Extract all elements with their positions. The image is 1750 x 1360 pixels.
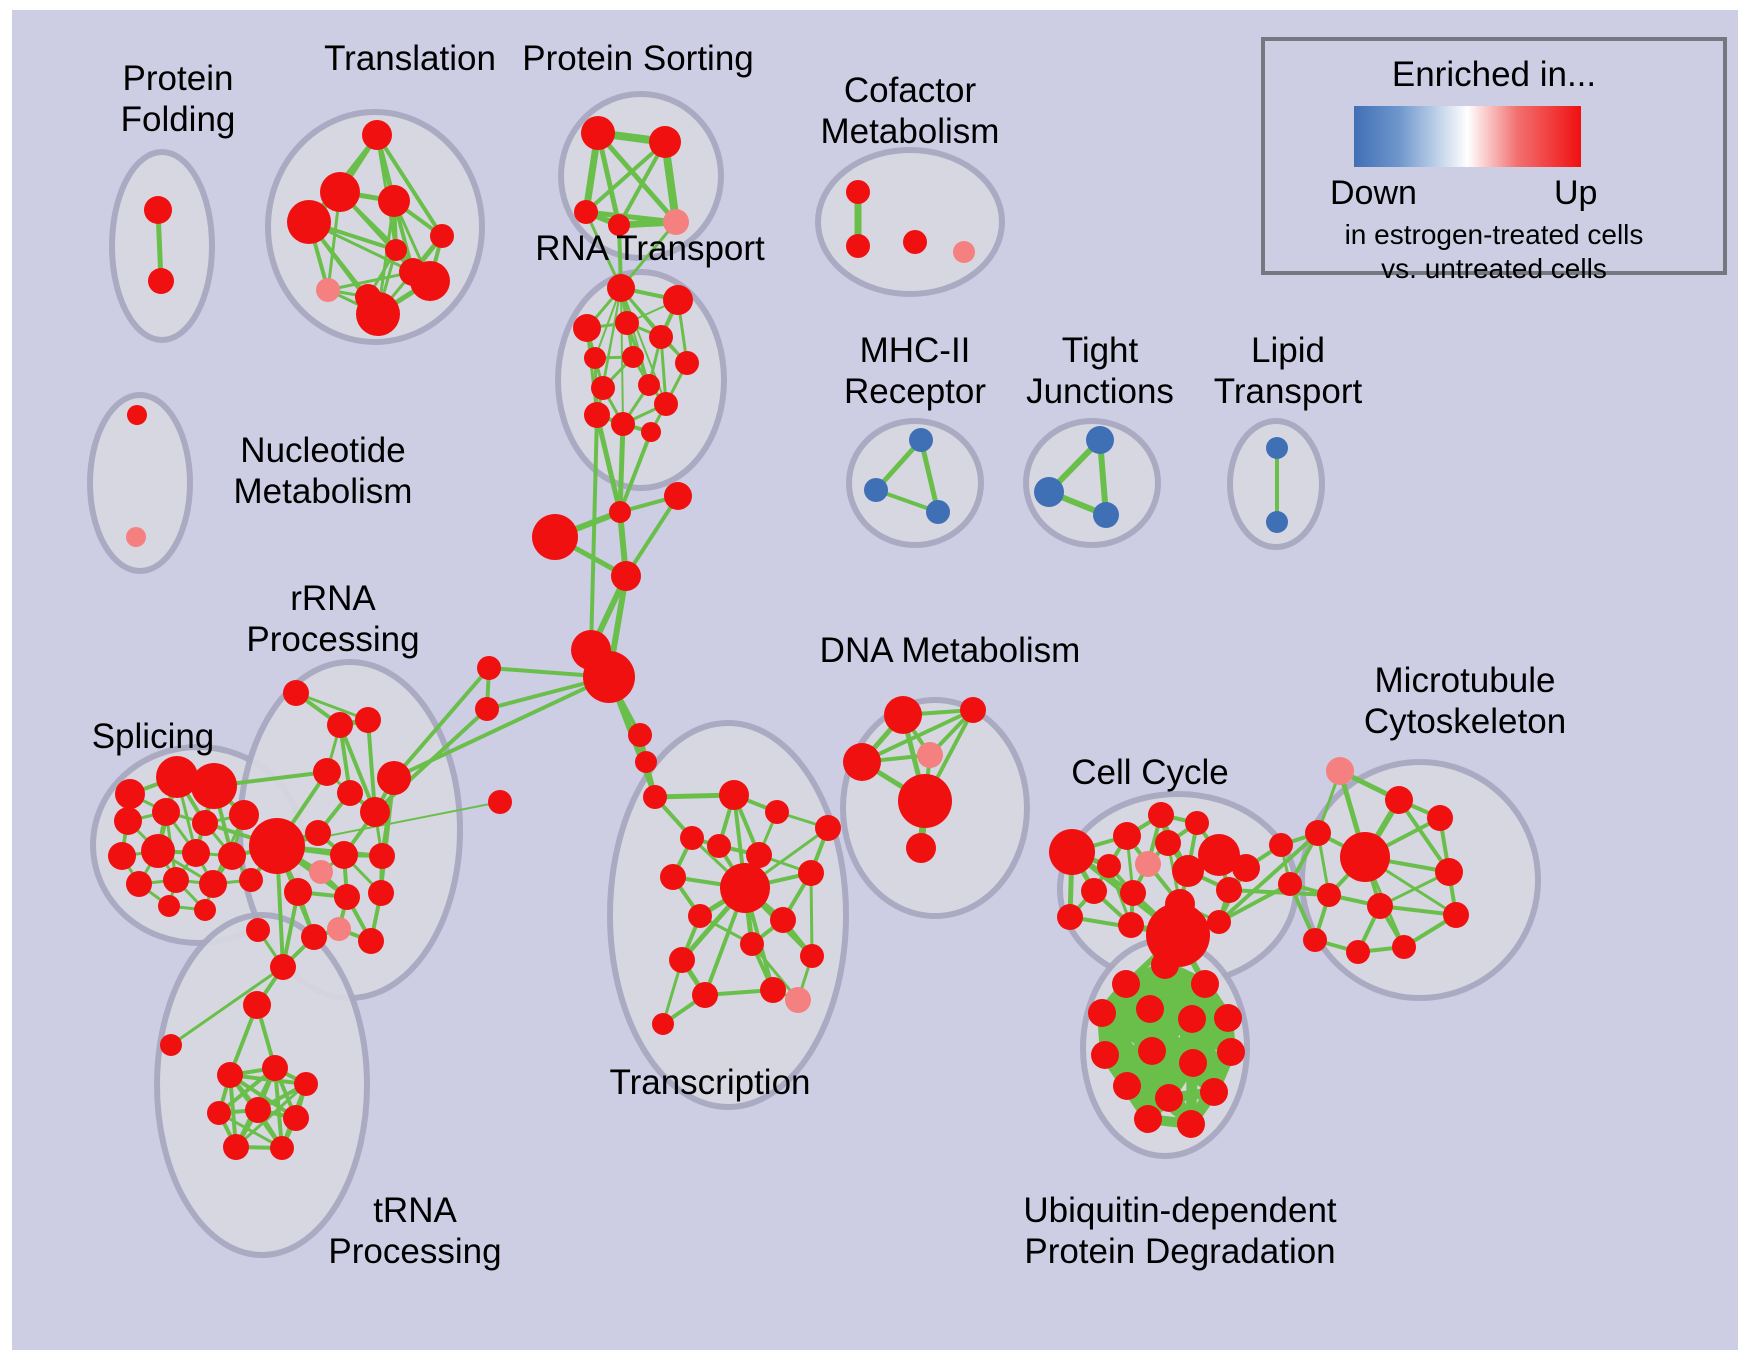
node-rna-transport (654, 392, 678, 416)
node-tight-junctions (1034, 477, 1064, 507)
node-rrna-processing (358, 928, 384, 954)
node-ubiquitin (1088, 999, 1116, 1027)
node-transcription (680, 826, 704, 850)
node-ubiquitin (1091, 1041, 1119, 1069)
node-rrna-processing (377, 761, 411, 795)
node-transcription (815, 815, 841, 841)
node-ubiquitin (1217, 1038, 1245, 1066)
node-rrna-processing (360, 797, 390, 827)
node-cell-cycle (1207, 910, 1231, 934)
node-microtubule (1326, 757, 1354, 785)
node-nucleotide-metabolism (127, 405, 147, 425)
cluster-label-splicing: Splicing (58, 716, 248, 757)
node-rrna-processing (246, 918, 270, 942)
node-trna-processing (262, 1055, 288, 1081)
node-rna-transport (584, 402, 610, 428)
legend-box: Enriched in... Down Up in estrogen-treat… (1261, 37, 1727, 275)
node-splicing (199, 870, 227, 898)
node-rna-transport (611, 412, 635, 436)
node-ubiquitin (1214, 1004, 1242, 1032)
legend-down-label: Down (1330, 174, 1417, 213)
node-rrna-processing (334, 884, 360, 910)
node-cofactor-metabolism (846, 180, 870, 204)
node-rna-transport (638, 374, 660, 396)
inter-cluster-edge (620, 424, 623, 512)
node-rrna-processing (249, 818, 305, 874)
node-bridge (477, 656, 501, 680)
node-transcription (707, 834, 731, 858)
node-bridge (664, 482, 692, 510)
node-transcription (770, 907, 796, 933)
node-mhc-ii (909, 428, 933, 452)
cluster-label-mhc-ii: MHC-II Receptor (805, 330, 1025, 412)
node-transcription (800, 944, 824, 968)
node-ubiquitin (1112, 970, 1140, 998)
node-dna-metabolism (898, 774, 952, 828)
node-ubiquitin (1138, 1037, 1166, 1065)
node-microtubule (1317, 883, 1341, 907)
node-splicing (163, 867, 189, 893)
node-transcription (740, 932, 764, 956)
node-ubiquitin (1113, 1072, 1141, 1100)
node-microtubule (1303, 928, 1327, 952)
cluster-label-protein-sorting: Protein Sorting (498, 38, 778, 79)
node-tight-junctions (1086, 426, 1114, 454)
node-splicing (108, 842, 136, 870)
node-cell-cycle (1135, 851, 1161, 877)
node-mhc-ii (864, 478, 888, 502)
node-splicing (191, 763, 237, 809)
node-splicing (194, 899, 216, 921)
node-splicing (192, 810, 218, 836)
node-splicing (115, 779, 145, 809)
node-cell-cycle (1049, 829, 1095, 875)
node-translation (399, 258, 427, 286)
node-rrna-processing (313, 758, 341, 786)
legend-colorbar (1354, 106, 1581, 167)
node-bridge (609, 501, 631, 523)
node-splicing (141, 834, 175, 868)
node-trna-processing (245, 1097, 271, 1123)
node-rna-transport (675, 351, 699, 375)
cluster-label-transcription: Transcription (580, 1062, 840, 1103)
node-cell-cycle (1113, 822, 1141, 850)
cluster-halo-microtubule (1302, 762, 1538, 998)
node-trna-processing (223, 1134, 249, 1160)
node-cell-cycle (1216, 877, 1242, 903)
node-dna-metabolism (917, 742, 943, 768)
node-cofactor-metabolism (903, 230, 927, 254)
node-bridge (583, 651, 635, 703)
node-protein-sorting (581, 116, 615, 150)
node-transcription (660, 864, 686, 890)
node-ubiquitin (1177, 1110, 1205, 1138)
node-translation (355, 284, 381, 310)
node-cell-cycle (1057, 904, 1083, 930)
node-rrna-processing (270, 954, 296, 980)
node-translation (430, 224, 454, 248)
node-rna-transport (663, 285, 693, 315)
node-microtubule (1305, 820, 1331, 846)
node-microtubule (1269, 833, 1293, 857)
node-microtubule (1278, 872, 1302, 896)
cluster-label-rna-transport: RNA Transport (510, 228, 790, 269)
node-splicing (158, 895, 180, 917)
node-bridge (628, 723, 652, 747)
node-microtubule (1340, 832, 1390, 882)
node-trna-processing (294, 1072, 318, 1096)
node-cell-cycle (1232, 854, 1260, 882)
legend-up-label: Up (1554, 174, 1597, 213)
node-splicing (182, 839, 210, 867)
node-rrna-processing (243, 991, 271, 1019)
node-ubiquitin (1191, 970, 1219, 998)
node-splicing (229, 800, 259, 830)
node-rna-transport (607, 274, 635, 302)
node-rna-transport (649, 325, 673, 349)
node-bridge (488, 790, 512, 814)
node-microtubule (1385, 786, 1413, 814)
node-ubiquitin (1179, 1049, 1207, 1077)
node-ubiquitin (1155, 1084, 1183, 1112)
node-bridge (532, 514, 578, 560)
node-cell-cycle (1172, 855, 1204, 887)
cluster-label-tight-junctions: Tight Junctions (1000, 330, 1200, 412)
node-trna-processing (160, 1034, 182, 1056)
node-dna-metabolism (843, 743, 881, 781)
cluster-label-cell-cycle: Cell Cycle (1040, 752, 1260, 793)
legend-subtitle-line2: vs. untreated cells (1265, 253, 1723, 285)
node-rrna-processing (301, 924, 327, 950)
node-microtubule (1427, 805, 1453, 831)
node-cofactor-metabolism (846, 234, 870, 258)
node-tight-junctions (1093, 502, 1119, 528)
node-cofactor-metabolism (953, 241, 975, 263)
node-protein-folding (144, 196, 172, 224)
figure-canvas: Protein FoldingTranslationProtein Sortin… (0, 0, 1750, 1360)
node-transcription (688, 904, 712, 928)
node-splicing (239, 868, 263, 892)
node-splicing (114, 807, 142, 835)
node-microtubule (1367, 893, 1393, 919)
node-rna-transport (573, 314, 601, 342)
node-rrna-processing (327, 712, 353, 738)
node-bridge (643, 785, 667, 809)
node-cell-cycle (1120, 880, 1146, 906)
cluster-label-protein-folding: Protein Folding (78, 58, 278, 140)
node-bridge (635, 751, 657, 773)
node-transcription (692, 982, 718, 1008)
node-ubiquitin (1200, 1078, 1228, 1106)
node-cell-cycle (1081, 878, 1107, 904)
cluster-label-rrna-processing: rRNA Processing (218, 578, 448, 660)
node-ubiquitin (1134, 1105, 1162, 1133)
node-splicing (152, 798, 180, 826)
node-rrna-processing (305, 820, 331, 846)
cluster-label-cofactor-metabolism: Cofactor Metabolism (795, 70, 1025, 152)
node-cell-cycle (1155, 830, 1181, 856)
cluster-halo-cofactor-metabolism (818, 150, 1002, 294)
node-microtubule (1435, 858, 1463, 886)
node-lipid-transport (1266, 437, 1288, 459)
cluster-label-lipid-transport: Lipid Transport (1188, 330, 1388, 412)
node-microtubule (1346, 940, 1370, 964)
node-rrna-processing (284, 878, 312, 906)
node-trna-processing (207, 1101, 231, 1125)
node-translation (385, 239, 407, 261)
node-cell-cycle (1185, 811, 1209, 835)
node-transcription (785, 987, 811, 1013)
node-dna-metabolism (884, 696, 922, 734)
node-splicing (126, 871, 152, 897)
node-transcription (652, 1013, 674, 1035)
node-rna-transport (615, 311, 639, 335)
node-rrna-processing (369, 843, 395, 869)
node-transcription (760, 977, 786, 1003)
node-translation (316, 278, 340, 302)
node-protein-folding (148, 268, 174, 294)
node-cell-cycle (1097, 854, 1121, 878)
node-transcription (669, 947, 695, 973)
node-ubiquitin (1178, 1005, 1206, 1033)
node-cell-cycle (1148, 802, 1174, 828)
cluster-label-nucleotide-metabolism: Nucleotide Metabolism (198, 430, 448, 512)
node-ubiquitin (1151, 951, 1179, 979)
node-translation (320, 172, 360, 212)
node-nucleotide-metabolism (126, 527, 146, 547)
node-transcription (765, 800, 789, 824)
node-translation (378, 185, 410, 217)
node-bridge (475, 697, 499, 721)
node-protein-sorting (649, 126, 681, 158)
node-rrna-processing (355, 707, 381, 733)
cluster-label-microtubule: Microtubule Cytoskeleton (1320, 660, 1610, 742)
node-splicing (218, 842, 246, 870)
node-trna-processing (283, 1105, 309, 1131)
node-trna-processing (217, 1062, 243, 1088)
node-transcription (719, 780, 749, 810)
legend-title: Enriched in... (1265, 55, 1723, 95)
node-protein-sorting (574, 200, 598, 224)
node-rrna-processing (368, 880, 394, 906)
node-rna-transport (622, 346, 644, 368)
node-rrna-processing (283, 680, 309, 706)
node-splicing (156, 756, 198, 798)
node-ubiquitin (1136, 995, 1164, 1023)
node-trna-processing (270, 1136, 294, 1160)
node-rrna-processing (309, 860, 333, 884)
node-dna-metabolism (960, 697, 986, 723)
node-microtubule (1392, 935, 1416, 959)
node-rrna-processing (330, 841, 358, 869)
node-dna-metabolism (906, 833, 936, 863)
node-translation (362, 120, 392, 150)
node-lipid-transport (1266, 511, 1288, 533)
node-cell-cycle (1118, 912, 1144, 938)
node-rna-transport (584, 347, 606, 369)
node-bridge (611, 561, 641, 591)
cluster-label-dna-metabolism: DNA Metabolism (800, 630, 1100, 671)
node-mhc-ii (926, 500, 950, 524)
node-translation (287, 200, 331, 244)
node-transcription (798, 860, 824, 886)
node-rrna-processing (327, 917, 351, 941)
node-microtubule (1443, 902, 1469, 928)
node-rna-transport (641, 422, 661, 442)
cluster-label-ubiquitin: Ubiquitin-dependent Protein Degradation (1005, 1190, 1355, 1272)
node-rrna-processing (337, 780, 363, 806)
legend-subtitle-line1: in estrogen-treated cells (1265, 219, 1723, 251)
node-rna-transport (591, 376, 615, 400)
node-transcription (720, 863, 770, 913)
cluster-label-trna-processing: tRNA Processing (300, 1190, 530, 1272)
